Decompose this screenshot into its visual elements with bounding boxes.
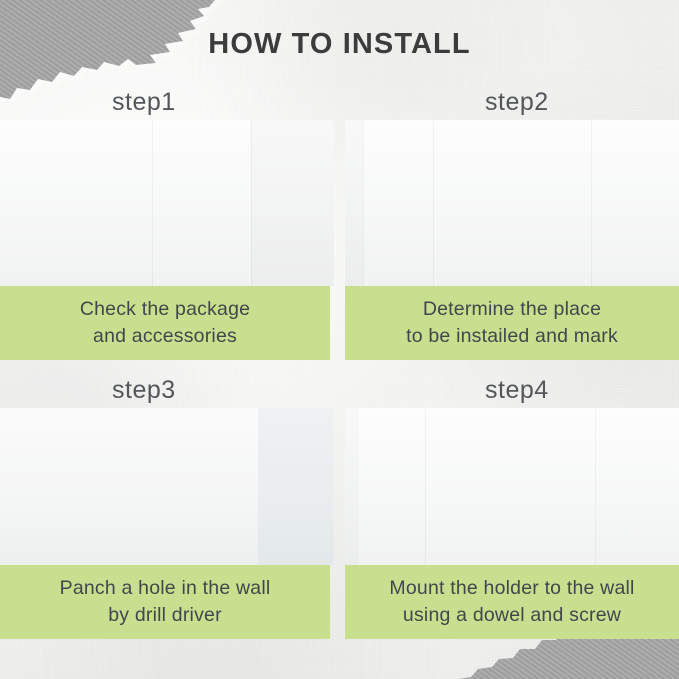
step-caption-3-line1: Panch a hole in the wall: [60, 575, 271, 602]
step-panel-4: step4: [345, 376, 679, 648]
step-caption-4: Mount the holder to the wall using a dow…: [345, 565, 679, 639]
step-caption-4-line2: using a dowel and screw: [403, 602, 621, 629]
infographic-canvas: HOW TO INSTALL step1: [0, 0, 679, 679]
step-caption-2-line2: to be instailed and mark: [406, 323, 618, 350]
step-caption-3-line2: by drill driver: [108, 602, 222, 629]
page-title: HOW TO INSTALL: [0, 28, 679, 61]
step-caption-1: Check the package and accessories: [0, 286, 330, 360]
step-caption-2-line1: Determine the place: [423, 296, 601, 323]
step-label-2: step2: [485, 88, 549, 117]
step-caption-1-line2: and accessories: [93, 323, 237, 350]
step-image-1: [0, 120, 334, 286]
step-label-3: step3: [112, 376, 176, 405]
step-caption-2: Determine the place to be instailed and …: [345, 286, 679, 360]
step-label-4: step4: [485, 376, 549, 405]
step-panel-2: step2: [345, 88, 679, 360]
step-image-2: [345, 120, 679, 286]
step-panel-1: step1: [0, 88, 334, 360]
step-image-3: metabo: [0, 408, 334, 565]
step-caption-3: Panch a hole in the wall by drill driver: [0, 565, 330, 639]
step-image-4: [345, 408, 679, 565]
step-caption-4-line1: Mount the holder to the wall: [389, 575, 634, 602]
step-label-1: step1: [112, 88, 176, 117]
step-panel-3: step3: [0, 376, 334, 648]
step-caption-1-line1: Check the package: [80, 296, 250, 323]
